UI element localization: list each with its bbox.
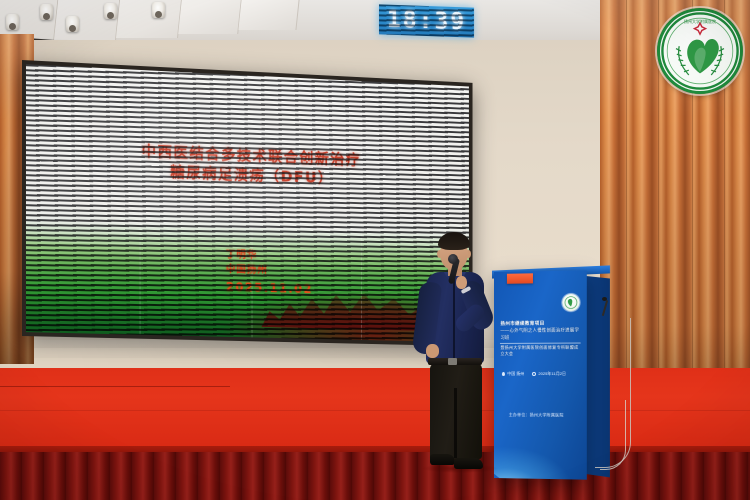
presenter-shoe-right: [454, 458, 483, 469]
podium-logo-icon: [562, 293, 579, 310]
conference-stage-photo: 扬州大学附属医院 · · · · · 中西医结合多技术联合创新治疗 糖尿病足溃疡…: [0, 0, 750, 500]
clock-icon: [532, 372, 536, 376]
ceiling-spotlight: [6, 14, 19, 30]
podium-date-label: 2025年11月2日: [538, 371, 566, 377]
digital-clock: 18:39: [379, 4, 474, 37]
ceiling-spotlight: [66, 16, 79, 32]
ceiling-spotlight: [40, 4, 53, 20]
podium-organizer: 主办单位：扬州大学附属医院: [509, 412, 582, 419]
presenter-person: [404, 228, 514, 470]
ceiling-spotlight: [152, 2, 165, 18]
podium-info-row: 中国 扬州 2025年11月2日: [502, 371, 581, 377]
podium-date-item: 2025年11月2日: [532, 371, 566, 377]
ceiling-spotlight: [104, 3, 117, 19]
podium-mic-head-icon: [602, 297, 607, 301]
stage-skirt-drape: [0, 452, 750, 500]
presenter-shoe-left: [430, 454, 455, 465]
podium-cable-secondary: [600, 400, 626, 470]
presentation-slide: · · · · · 中西医结合多技术联合创新治疗 糖尿病足溃疡（DFU） 丁明华…: [26, 64, 469, 342]
slide-title: 中西医结合多技术联合创新治疗 糖尿病足溃疡（DFU）: [63, 138, 435, 193]
hospital-emblem: 扬州大学附属医院: [657, 8, 743, 94]
slide-tiny-header: · · · · ·: [297, 117, 338, 125]
svg-text:扬州大学附属医院: 扬州大学附属医院: [684, 18, 716, 24]
